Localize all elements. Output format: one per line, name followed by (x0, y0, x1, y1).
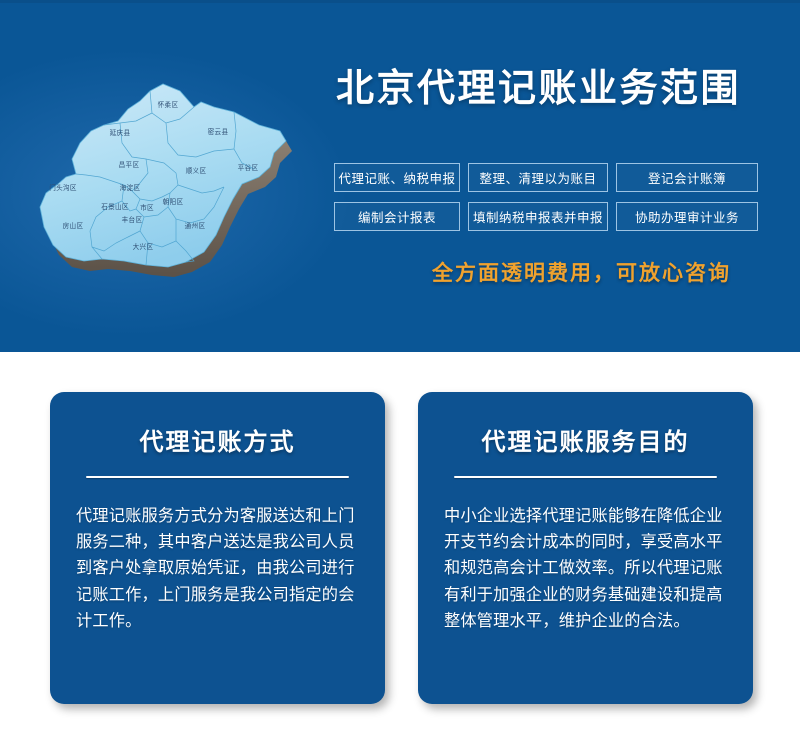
page-title: 北京代理记账业务范围 (336, 69, 741, 107)
map-label-chaoyang: 朝阳区 (163, 197, 184, 206)
beijing-map: 怀柔区 延庆县 密云县 昌平区 顺义区 平谷区 门头沟区 海淀区 朝阳区 石景山… (28, 81, 303, 281)
info-card-method: 代理记账方式 代理记账服务方式分为客服送达和上门服务二种，其中客户送达是我公司人… (50, 392, 385, 704)
service-tag-list: 代理记账、纳税申报 整理、清理以为账目 登记会计账簿 编制会计报表 填制纳税申报… (334, 163, 778, 231)
card-title-method: 代理记账方式 (50, 422, 385, 457)
service-tag-5[interactable]: 填制纳税申报表并申报 (468, 202, 608, 231)
service-tag-4[interactable]: 编制会计报表 (334, 202, 460, 231)
banner-tagline: 全方面透明费用，可放心咨询 (432, 257, 731, 287)
map-label-shiqu: 市区 (140, 203, 154, 212)
map-label-shijingshan: 石景山区 (101, 202, 129, 211)
map-label-yanqing: 延庆县 (110, 128, 131, 137)
card-divider-purpose (454, 476, 717, 478)
promo-page: 怀柔区 延庆县 密云县 昌平区 顺义区 平谷区 门头沟区 海淀区 朝阳区 石景山… (0, 0, 800, 746)
map-label-haidian: 海淀区 (120, 183, 141, 192)
map-label-huairou: 怀柔区 (158, 100, 179, 109)
map-label-fengtai: 丰台区 (122, 215, 143, 224)
map-label-changping: 昌平区 (119, 161, 140, 169)
map-label-pinggu: 平谷区 (238, 163, 259, 172)
service-tag-1[interactable]: 代理记账、纳税申报 (334, 163, 460, 192)
info-card-section: 代理记账方式 代理记账服务方式分为客服送达和上门服务二种，其中客户送达是我公司人… (0, 352, 800, 746)
service-tag-6[interactable]: 协助办理审计业务 (616, 202, 758, 231)
card-divider-method (86, 476, 349, 478)
map-label-shunyi: 顺义区 (186, 167, 207, 175)
card-body-purpose: 中小企业选择代理记账能够在降低企业开支节约会计成本的同时，享受高水平和规范高会计… (444, 503, 727, 634)
map-label-tongzhou: 通州区 (185, 221, 206, 230)
service-tag-2[interactable]: 整理、清理以为账目 (468, 163, 608, 192)
card-body-method: 代理记账服务方式分为客服送达和上门服务二种，其中客户送达是我公司人员到客户处拿取… (76, 503, 359, 634)
map-surface: 怀柔区 延庆县 密云县 昌平区 顺义区 平谷区 门头沟区 海淀区 朝阳区 石景山… (40, 84, 286, 267)
service-tag-3[interactable]: 登记会计账簿 (616, 163, 758, 192)
beijing-map-svg: 怀柔区 延庆县 密云县 昌平区 顺义区 平谷区 门头沟区 海淀区 朝阳区 石景山… (28, 81, 303, 281)
map-label-mentougou: 门头沟区 (49, 183, 77, 192)
hero-banner: 怀柔区 延庆县 密云县 昌平区 顺义区 平谷区 门头沟区 海淀区 朝阳区 石景山… (0, 0, 800, 352)
card-title-purpose: 代理记账服务目的 (418, 422, 753, 457)
map-label-miyun: 密云县 (208, 127, 229, 136)
info-card-purpose: 代理记账服务目的 中小企业选择代理记账能够在降低企业开支节约会计成本的同时，享受… (418, 392, 753, 704)
map-label-daxing: 大兴区 (133, 242, 154, 251)
map-label-fangshan: 房山区 (63, 221, 84, 230)
